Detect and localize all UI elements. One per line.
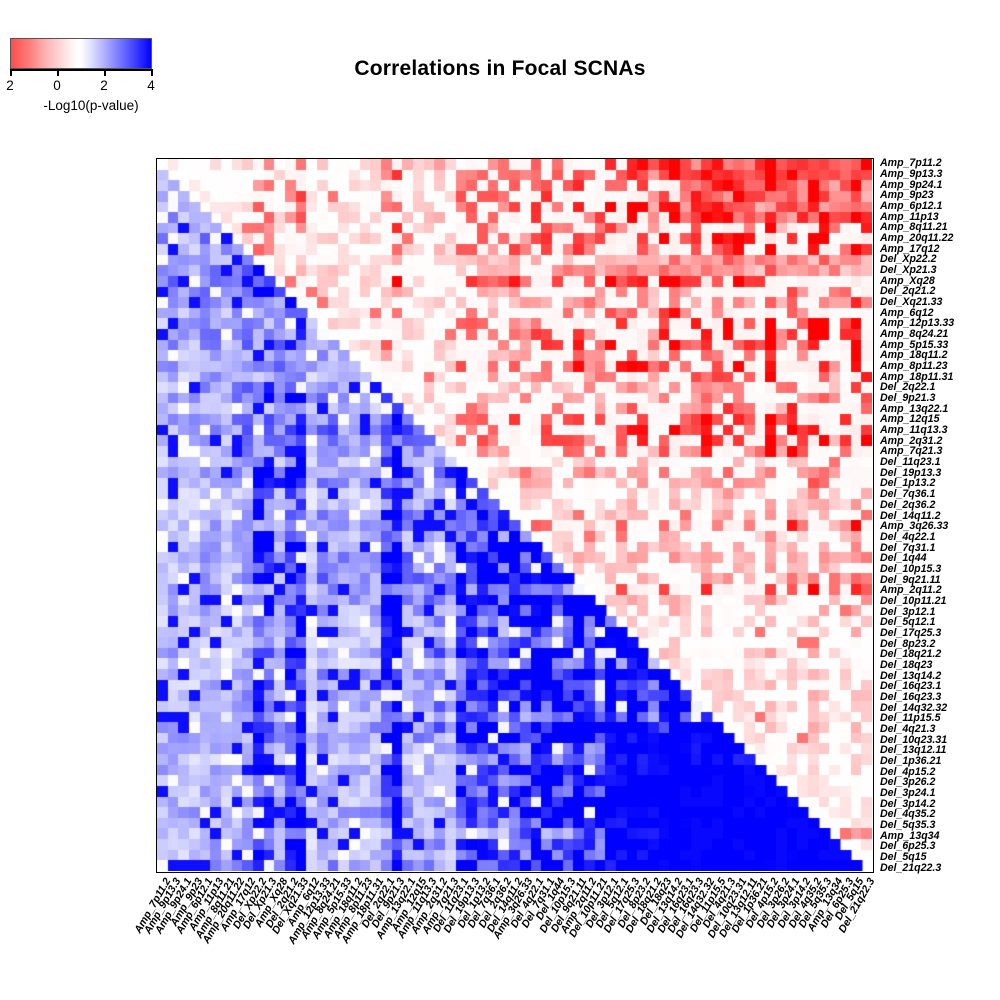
row-label: Amp_6q12	[880, 308, 934, 318]
row-label: Del_11q23.1	[880, 457, 940, 467]
row-label: Amp_8q11.21	[880, 222, 948, 232]
row-label: Del_4q22.1	[880, 532, 935, 542]
row-label: Del_16q23.3	[880, 692, 941, 702]
row-label: Del_10p11.21	[880, 596, 946, 606]
colorbar-axis-label: -Log10(p-value)	[11, 98, 171, 113]
row-label: Amp_2q11.2	[880, 585, 942, 595]
row-label: Del_3p14.2	[880, 799, 935, 809]
row-label: Amp_18q11.2	[880, 350, 948, 360]
row-label: Del_1q44	[880, 553, 927, 563]
row-label: Del_1p13.2	[880, 478, 935, 488]
row-label: Del_9q21.11	[880, 575, 940, 585]
row-label: Del_9p21.3	[880, 393, 935, 403]
row-label: Del_4q21.3	[880, 724, 935, 734]
row-label: Amp_11p13	[880, 212, 939, 222]
row-label: Amp_8q24.21	[880, 329, 948, 339]
row-label: Del_18q21.2	[880, 649, 941, 659]
row-label: Amp_7p11.2	[880, 158, 942, 168]
row-label: Amp_13q22.1	[880, 404, 948, 414]
row-label: Del_4p15.2	[880, 767, 935, 777]
row-label: Del_3p12.1	[880, 607, 935, 617]
row-label: Del_16q23.1	[880, 681, 941, 691]
row-label: Del_2q21.2	[880, 286, 935, 296]
row-label: Del_14q11.2	[880, 511, 940, 521]
row-label-axis: Amp_7p11.2Amp_9p13.3Amp_9p24.1Amp_9p23Am…	[880, 158, 1000, 873]
row-label: Amp_8p11.23	[880, 361, 948, 371]
row-label: Del_18q23	[880, 660, 932, 670]
row-label: Del_3p26.2	[880, 777, 935, 787]
row-label: Del_14q32.32	[880, 703, 947, 713]
row-label: Del_5q12.1	[880, 617, 935, 627]
row-label: Amp_9p24.1	[880, 180, 942, 190]
row-label: Del_4q35.2	[880, 809, 935, 819]
chart-title: Correlations in Focal SCNAs	[0, 57, 1000, 81]
row-label: Del_Xp22.2	[880, 254, 937, 264]
row-label: Del_19p13.3	[880, 468, 941, 478]
row-label: Amp_6p12.1	[880, 201, 942, 211]
row-label: Amp_3q26.33	[880, 521, 948, 531]
row-label: Amp_2q31.2	[880, 436, 942, 446]
column-label-axis: Amp_7p11.2Amp_9p13.3Amp_9p24.1Amp_9p23Am…	[0, 876, 1000, 1000]
row-label: Amp_12q15	[880, 414, 939, 424]
row-label: Del_1p36.21	[880, 756, 941, 766]
row-label: Amp_17q12	[880, 244, 939, 254]
row-label: Amp_11q13.3	[880, 425, 948, 435]
row-label: Amp_7q21.3	[880, 446, 942, 456]
row-label: Del_21q22.3	[880, 863, 941, 873]
row-label: Amp_9p23	[880, 190, 934, 200]
row-label: Del_17q25.3	[880, 628, 941, 638]
row-label: Del_13q14.2	[880, 671, 941, 681]
row-label: Amp_20q11.22	[880, 233, 953, 243]
row-label: Amp_12p13.33	[880, 318, 954, 328]
row-label: Del_2q22.1	[880, 382, 935, 392]
row-label: Del_3p24.1	[880, 788, 935, 798]
row-label: Del_Xp21.3	[880, 265, 937, 275]
row-label: Amp_9p13.3	[880, 169, 942, 179]
row-label: Del_8p23.2	[880, 639, 935, 649]
row-label: Del_7q36.1	[880, 489, 935, 499]
row-label: Del_7q31.1	[880, 543, 935, 553]
row-label: Del_11p15.5	[880, 713, 940, 723]
heatmap-plot-area	[156, 158, 874, 873]
row-label: Del_10p15.3	[880, 564, 941, 574]
row-label: Del_2q36.2	[880, 500, 935, 510]
row-label: Del_13q12.11	[880, 745, 946, 755]
row-label: Amp_18p11.31	[880, 372, 953, 382]
row-label: Del_10q23.31	[880, 735, 947, 745]
row-label: Amp_Xq28	[880, 276, 935, 286]
heatmap-cells	[157, 159, 872, 871]
row-label: Amp_5p15.33	[880, 340, 948, 350]
row-label: Del_Xq21.33	[880, 297, 942, 307]
